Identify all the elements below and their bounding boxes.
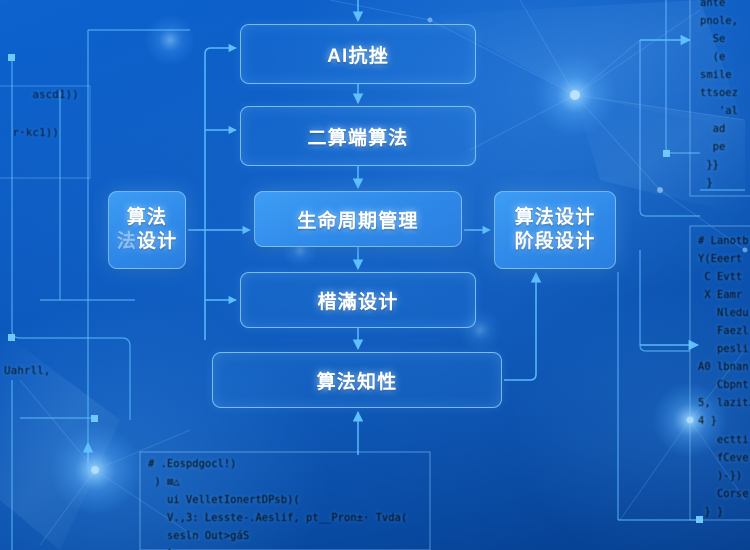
node-label: 算法知性 — [317, 367, 398, 394]
node-label: 棤滿设计 — [318, 287, 399, 314]
node-dual-algorithm[interactable]: 二算端算法 — [240, 106, 476, 166]
node-label-line1: 算法设计 — [515, 206, 596, 230]
node-algorithm-knowledge[interactable]: 算法知性 — [212, 352, 502, 408]
node-ai-resilience[interactable]: AI抗挫 — [240, 24, 476, 84]
node-label-line1: 算法 — [127, 206, 167, 230]
node-label-line2-faint: 法 — [117, 231, 137, 252]
node-algorithm-design-entry[interactable]: 算法 法设计 — [108, 191, 186, 269]
node-label: 生命周期管理 — [297, 206, 418, 233]
diagram-canvas: .w{stroke:#5fc0ff;stroke-width:1.5;fill:… — [0, 0, 750, 550]
node-model-design[interactable]: 棤滿设计 — [240, 272, 476, 328]
node-label-line2-main: 设计 — [137, 231, 177, 252]
node-label-line2: 法设计 — [117, 230, 178, 254]
node-algorithm-design-stage[interactable]: 算法设计 阶段设计 — [494, 191, 616, 269]
node-label: 二算端算法 — [307, 123, 408, 150]
node-lifecycle-management[interactable]: 生命周期管理 — [254, 191, 462, 247]
node-label-line2: 阶段设计 — [515, 230, 596, 254]
node-label: AI抗挫 — [327, 41, 389, 68]
